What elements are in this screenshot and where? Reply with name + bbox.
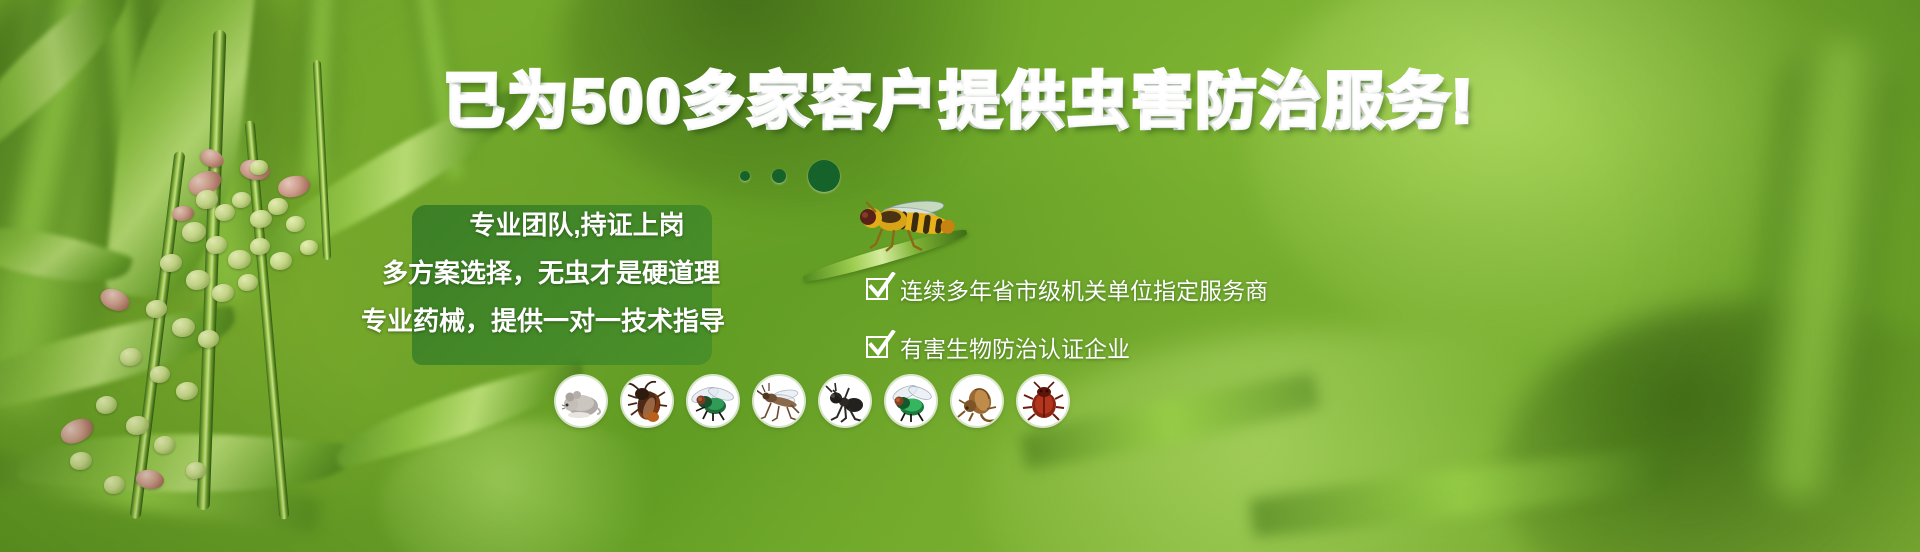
feature-line-1: 专业团队,持证上岗 (330, 212, 750, 238)
checkbox-checked-icon (866, 278, 888, 300)
pest-icon-mosquito[interactable] (754, 376, 804, 426)
list-item: 有害生物防治认证企业 (866, 330, 1268, 364)
mosquito-icon (757, 379, 801, 423)
dot-large-icon (808, 160, 840, 192)
decorative-dots (740, 160, 840, 192)
list-item-label: 有害生物防治认证企业 (900, 330, 1130, 364)
pest-icon-row (556, 376, 1068, 426)
feature-line-3: 专业药械，提供一对一技术指导 (330, 308, 750, 334)
cockroach-icon (625, 379, 669, 423)
dot-medium-icon (772, 169, 786, 183)
page-title: 已为500多家客户提供虫害防治服务! (0, 72, 1920, 132)
dot-small-icon (740, 171, 750, 181)
bedbug-icon (1021, 379, 1065, 423)
flea-icon (955, 379, 999, 423)
pest-icon-blowfly[interactable] (688, 376, 738, 426)
mouse-icon (559, 379, 603, 423)
pest-icon-mouse[interactable] (556, 376, 606, 426)
ant-icon (823, 379, 867, 423)
pest-icon-ant[interactable] (820, 376, 870, 426)
checkbox-checked-icon (866, 336, 888, 358)
pest-icon-flea[interactable] (952, 376, 1002, 426)
feature-line-2: 多方案选择，无虫才是硬道理 (330, 260, 750, 286)
page-title-text: 已为500多家客户提供虫害防治服务! (444, 72, 1476, 132)
blowfly-icon (691, 379, 735, 423)
list-item-label: 连续多年省市级机关单位指定服务商 (900, 272, 1268, 306)
pest-icon-cockroach[interactable] (622, 376, 672, 426)
pest-control-banner: 已为500多家客户提供虫害防治服务! 专业团队,持证上岗 多方案选择，无虫才是硬… (0, 0, 1920, 552)
greenfly-icon (889, 379, 933, 423)
pest-icon-bedbug[interactable] (1018, 376, 1068, 426)
hoverfly-icon (852, 196, 962, 254)
list-item: 连续多年省市级机关单位指定服务商 (866, 272, 1268, 306)
feature-panel-text: 专业团队,持证上岗 多方案选择，无虫才是硬道理 专业药械，提供一对一技术指导 (330, 212, 750, 334)
pest-icon-greenfly[interactable] (886, 376, 936, 426)
certification-list: 连续多年省市级机关单位指定服务商 有害生物防治认证企业 (866, 272, 1268, 388)
